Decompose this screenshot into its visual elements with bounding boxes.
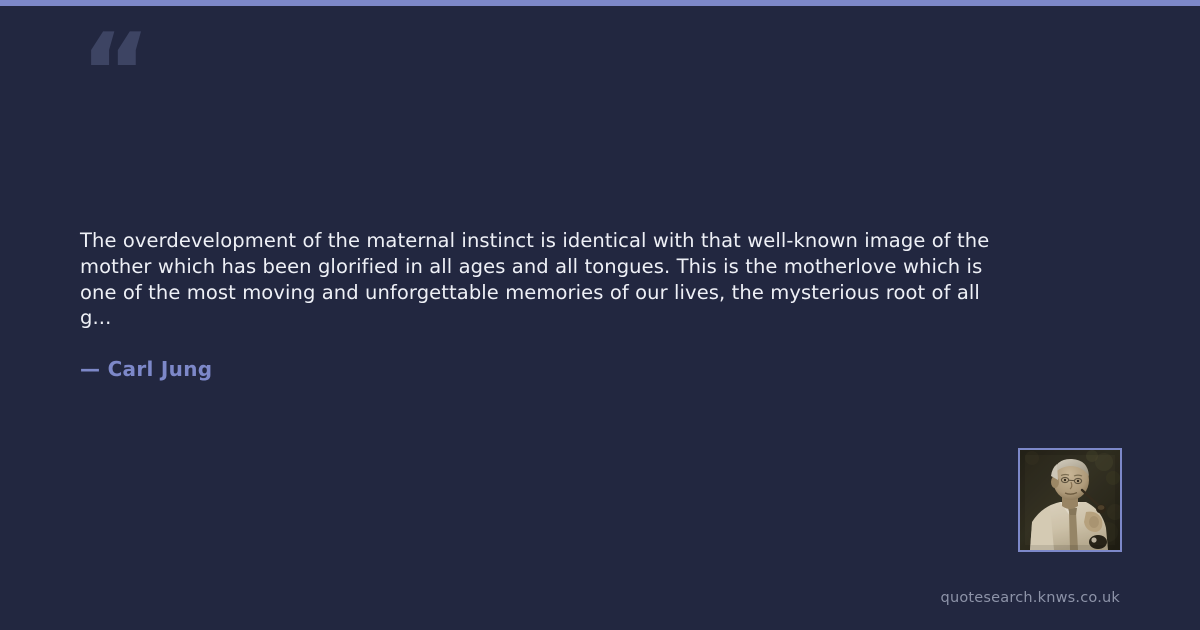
- top-accent-bar: [0, 0, 1200, 6]
- author-portrait-image: [1020, 450, 1120, 550]
- quote-attribution: — Carl Jung: [80, 357, 1005, 381]
- quote-body: The overdevelopment of the maternal inst…: [80, 228, 1005, 381]
- source-url: quotesearch.knws.co.uk: [941, 590, 1120, 606]
- quote-card: “ The overdevelopment of the maternal in…: [0, 0, 1200, 630]
- open-quote-icon: “: [80, 20, 149, 128]
- quote-text: The overdevelopment of the maternal inst…: [80, 228, 1005, 331]
- author-portrait: [1020, 450, 1120, 550]
